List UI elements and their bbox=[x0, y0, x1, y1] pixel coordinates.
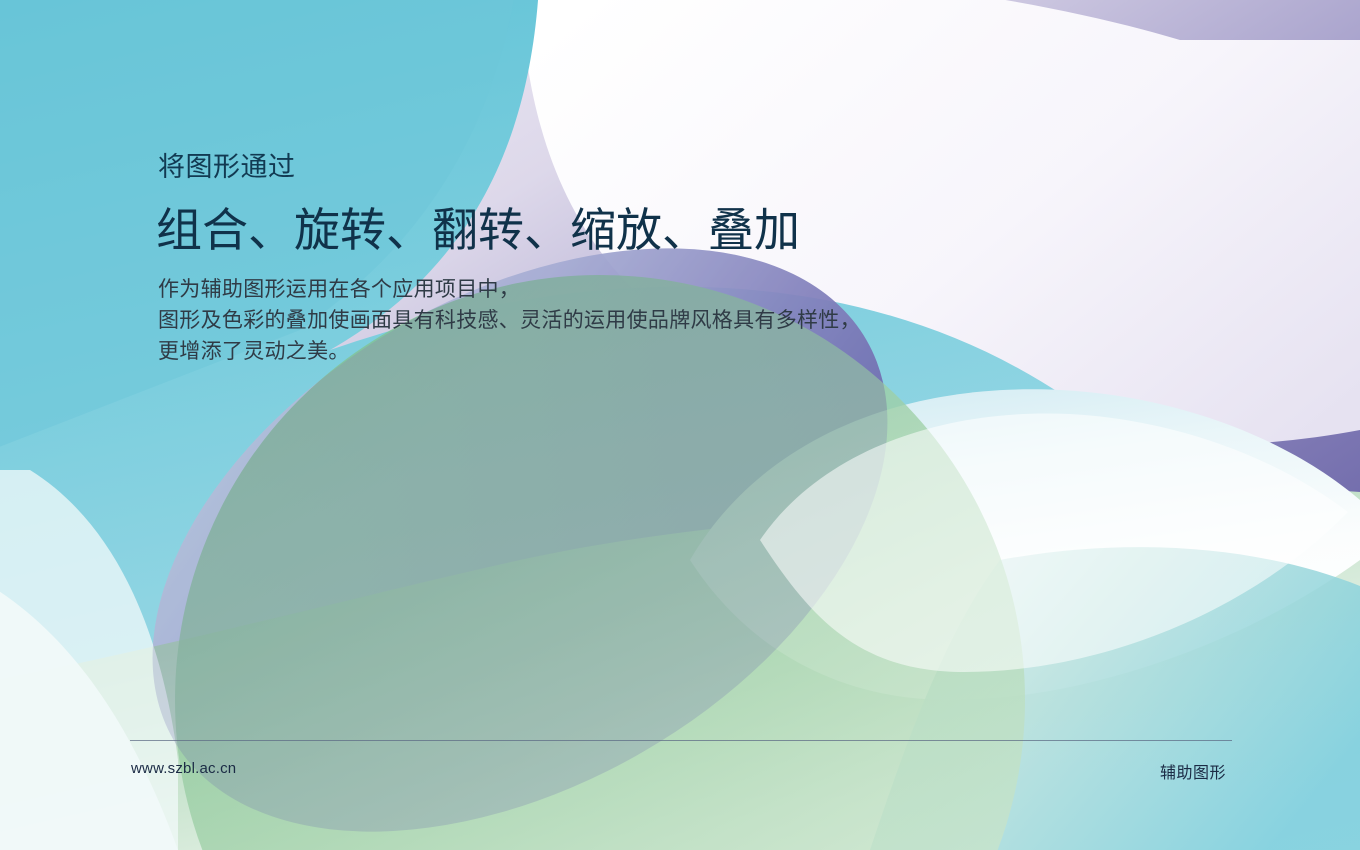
body-paragraph: 作为辅助图形运用在各个应用项目中， 图形及色彩的叠加使画面具有科技感、灵活的运用… bbox=[158, 274, 861, 367]
footer-section-label: 辅助图形 bbox=[1160, 759, 1226, 783]
decorative-background-artwork bbox=[0, 0, 1360, 850]
eyebrow-text: 将图形通过 bbox=[158, 151, 296, 185]
paragraph-line: 更增添了灵动之美。 bbox=[158, 336, 861, 367]
paragraph-line: 图形及色彩的叠加使画面具有科技感、灵活的运用使品牌风格具有多样性， bbox=[158, 305, 861, 336]
footer-divider bbox=[130, 740, 1232, 741]
footer-website-url[interactable]: www.szbl.ac.cn bbox=[131, 760, 236, 777]
page-title: 组合、旋转、翻转、缩放、叠加 bbox=[156, 203, 800, 257]
paragraph-line: 作为辅助图形运用在各个应用项目中， bbox=[158, 274, 861, 305]
poster-canvas: 将图形通过 组合、旋转、翻转、缩放、叠加 作为辅助图形运用在各个应用项目中， 图… bbox=[0, 0, 1360, 850]
